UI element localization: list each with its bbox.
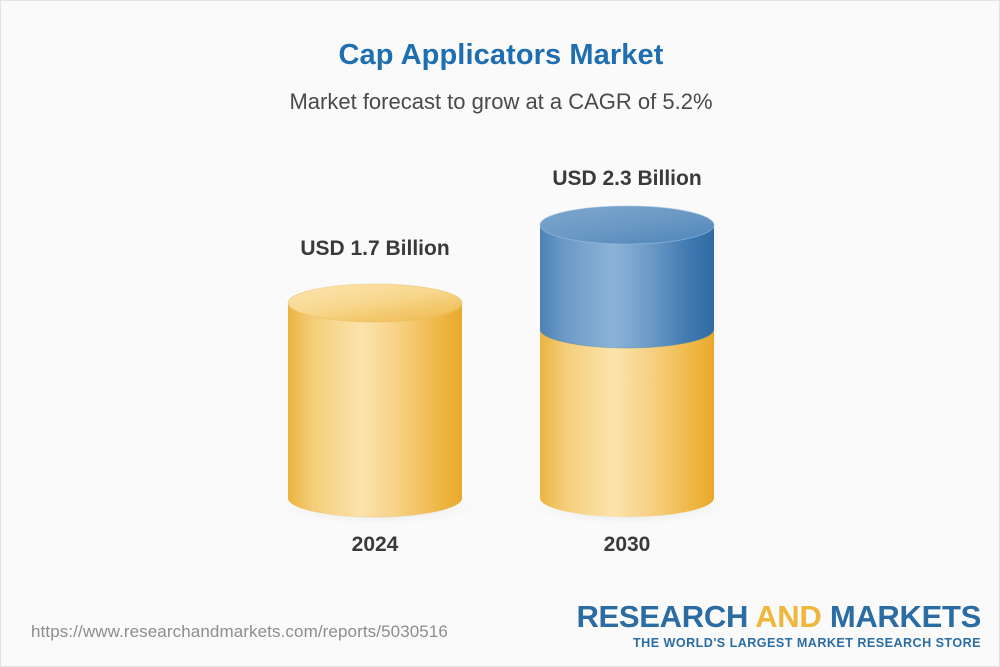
cylinder-2030	[523, 193, 731, 541]
source-url[interactable]: https://www.researchandmarkets.com/repor…	[31, 622, 448, 642]
logo-word-research: RESEARCH	[576, 599, 748, 634]
category-label-2024: 2024	[288, 533, 462, 557]
logo-wordmark: RESEARCH AND MARKETS	[576, 601, 981, 632]
logo-tagline: THE WORLD'S LARGEST MARKET RESEARCH STOR…	[576, 637, 981, 650]
plot-area: USD 1.7 Billion	[1, 1, 1000, 601]
research-and-markets-logo[interactable]: RESEARCH AND MARKETS THE WORLD'S LARGEST…	[576, 601, 981, 650]
chart-page: Cap Applicators Market Market forecast t…	[0, 0, 1000, 667]
logo-word-markets: MARKETS	[830, 599, 981, 634]
category-label-2030: 2030	[539, 533, 715, 557]
value-label-2030: USD 2.3 Billion	[539, 167, 715, 191]
logo-word-and: AND	[755, 599, 821, 634]
cylinder-2024	[272, 271, 478, 541]
value-label-2024: USD 1.7 Billion	[288, 237, 462, 261]
